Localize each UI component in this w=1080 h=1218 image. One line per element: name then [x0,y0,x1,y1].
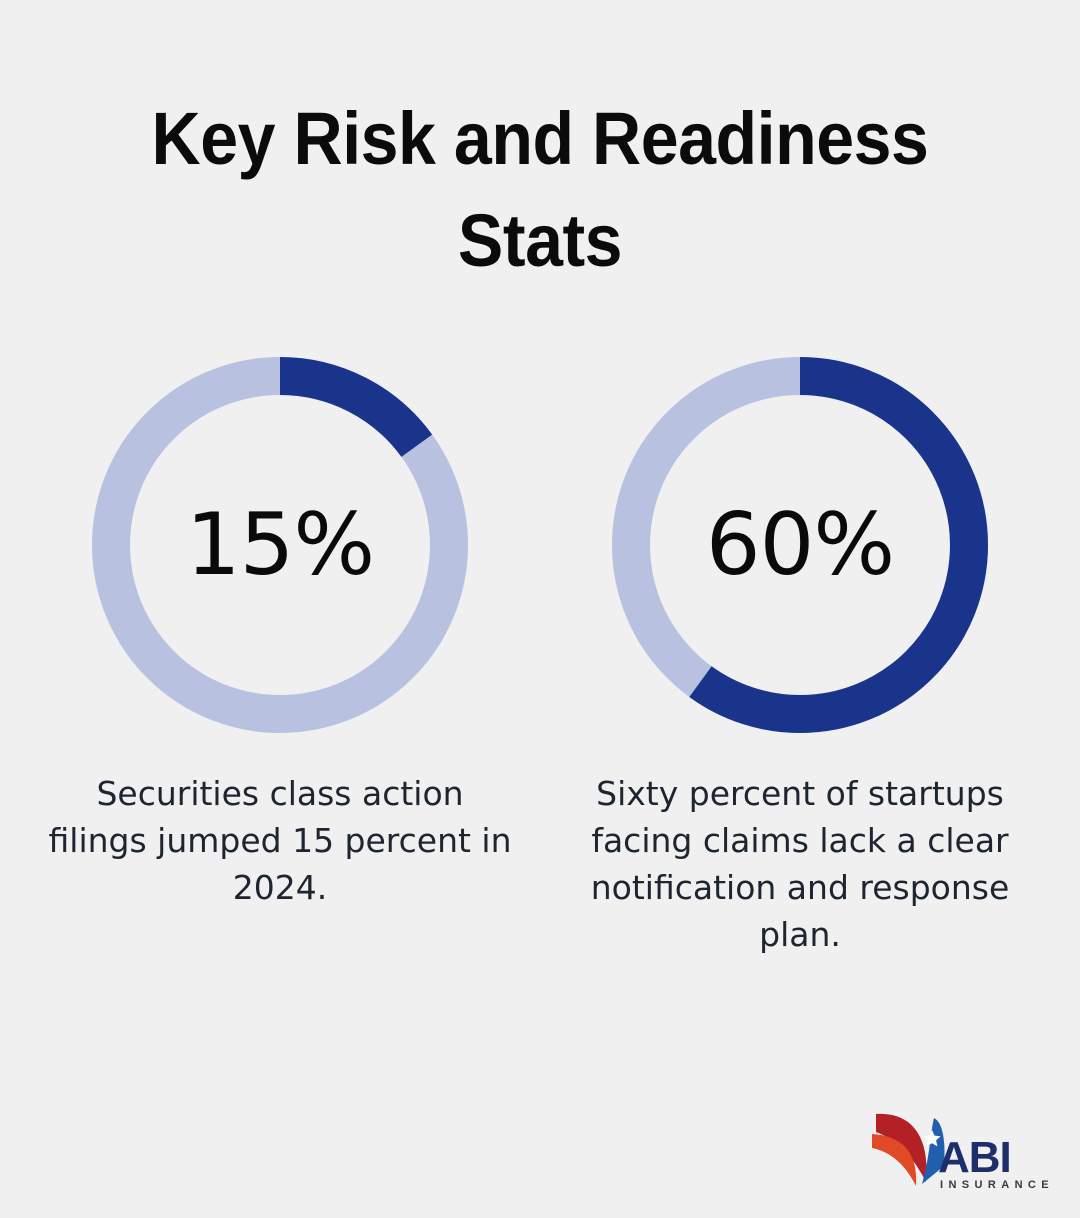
donut-value-1: 15% [92,357,468,733]
stats-row: 15% Securities class action filings jump… [0,357,1080,958]
donut-chart-1: 15% [92,357,468,733]
title-block: Key Risk and Readiness Stats [90,88,990,292]
donut-value-2: 60% [612,357,988,733]
stat-caption-2: Sixty percent of startups facing claims … [565,771,1035,958]
logo-tagline-text: INSURANCE [940,1179,1050,1191]
stat-caption-1: Securities class action filings jumped 1… [45,771,515,912]
donut-chart-2: 60% [612,357,988,733]
abi-insurance-logo: ABI INSURANCE [864,1100,1050,1196]
stat-card-2: 60% Sixty percent of startups facing cla… [540,357,1060,958]
infographic-canvas: Key Risk and Readiness Stats 15% Securit… [0,0,1080,1218]
page-title: Key Risk and Readiness Stats [126,88,954,292]
stat-card-1: 15% Securities class action filings jump… [20,357,540,912]
logo-brand-text: ABI [938,1133,1011,1182]
abi-logo-svg: ABI INSURANCE [864,1100,1050,1196]
logo-swoosh-icon [872,1114,927,1186]
